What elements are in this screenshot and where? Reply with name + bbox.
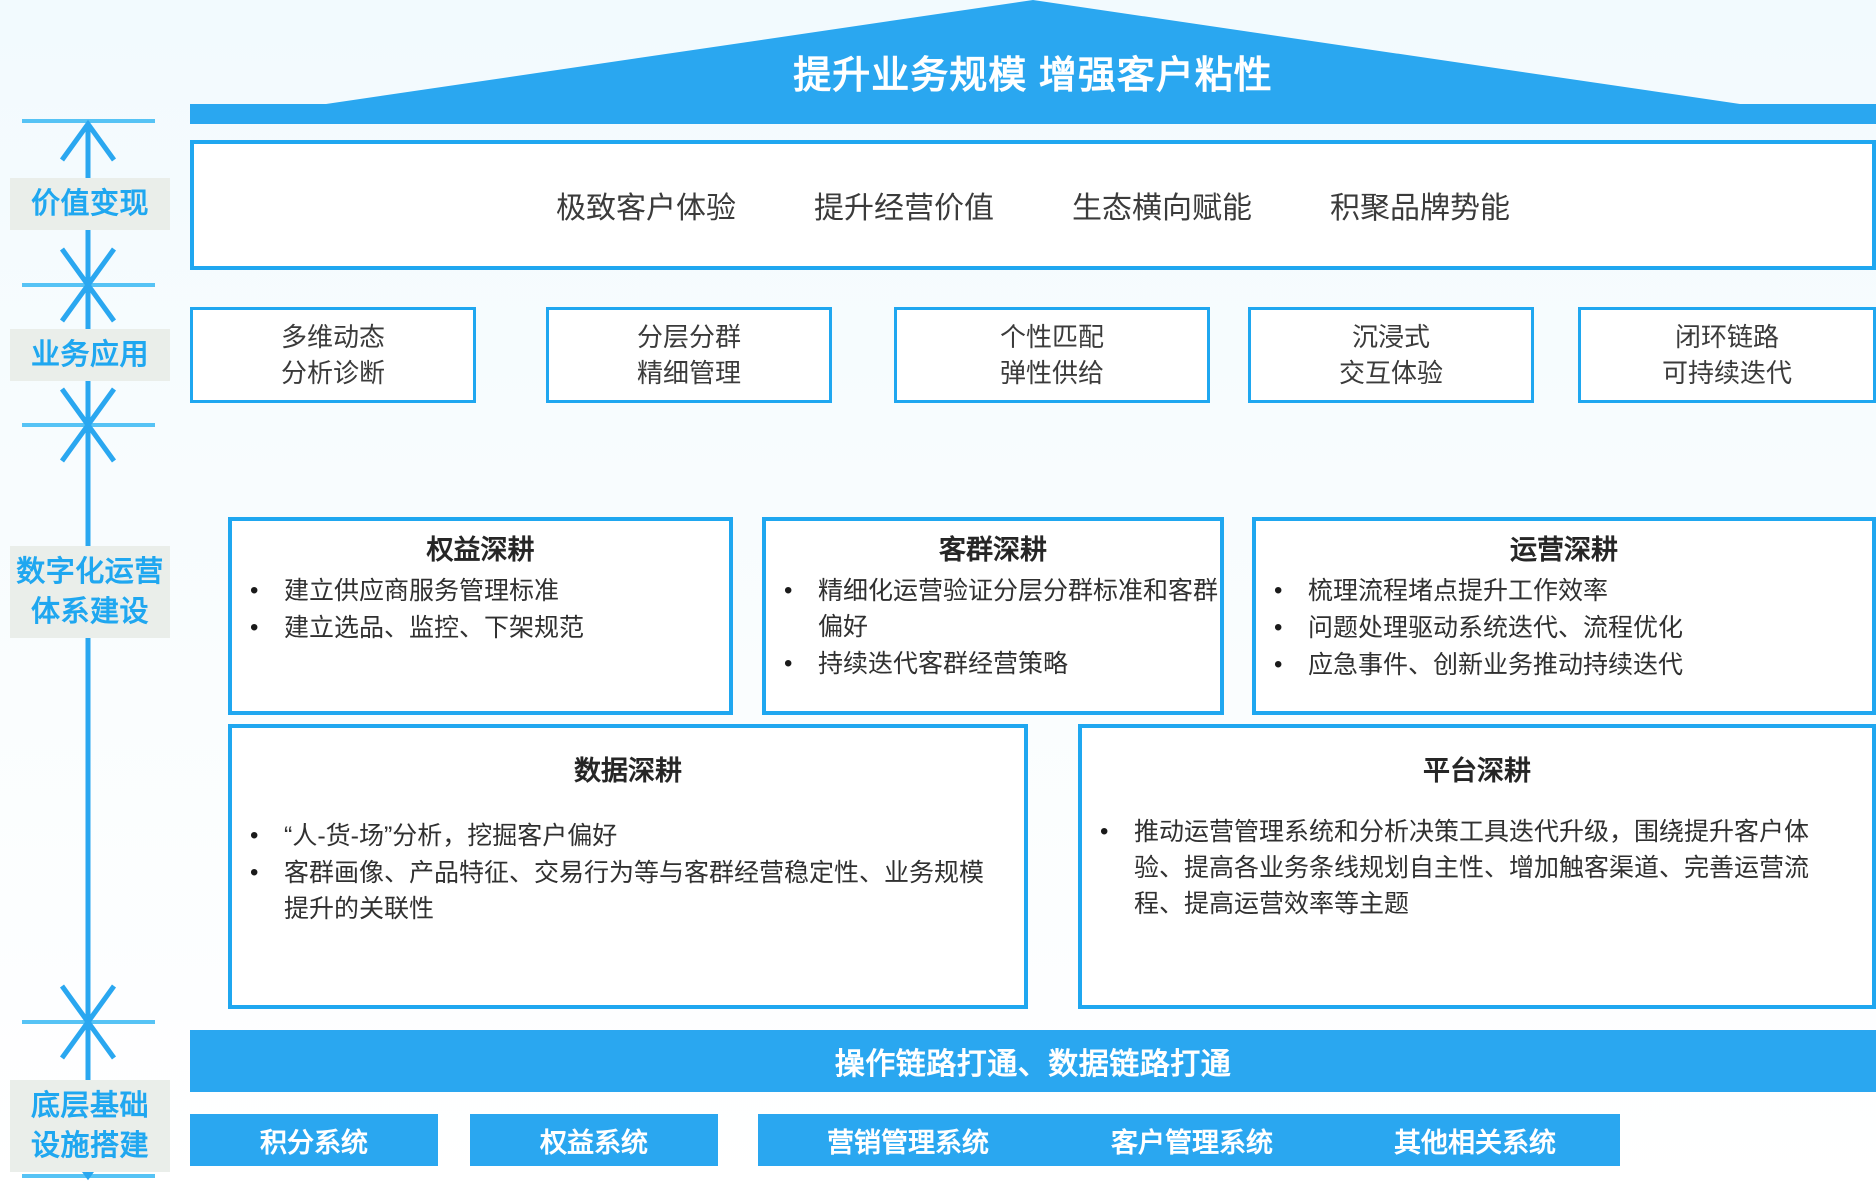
app-box-3[interactable]: 沉浸式 交互体验 bbox=[1248, 307, 1534, 403]
list-item: 建立选品、监控、下架规范 bbox=[232, 610, 729, 646]
app-box-1-line1: 分层分群 bbox=[637, 319, 741, 355]
value-item-1: 提升经营价值 bbox=[814, 183, 994, 227]
rail-item-application[interactable]: 业务应用 bbox=[10, 329, 170, 381]
value-item-2: 生态横向赋能 bbox=[1072, 183, 1252, 227]
app-box-0-line1: 多维动态 bbox=[281, 319, 385, 355]
app-box-1[interactable]: 分层分群 精细管理 bbox=[546, 307, 832, 403]
list-item: 持续迭代客群经营策略 bbox=[766, 646, 1220, 682]
system-box-marketing[interactable]: 营销管理系统 bbox=[758, 1114, 1058, 1166]
list-item: 梳理流程堵点提升工作效率 bbox=[1256, 573, 1872, 609]
deep-box-operation[interactable]: 运营深耕 梳理流程堵点提升工作效率 问题处理驱动系统迭代、流程优化 应急事件、创… bbox=[1252, 517, 1876, 715]
rail-item-infrastructure[interactable]: 底层基础 设施搭建 bbox=[10, 1080, 170, 1172]
deep-box-platform-title: 平台深耕 bbox=[1082, 752, 1872, 790]
list-item: 客群画像、产品特征、交易行为等与客群经营稳定性、业务规模提升的关联性 bbox=[232, 855, 1006, 927]
system-box-equity-label: 权益系统 bbox=[540, 1121, 648, 1160]
rail-label-line2: 设施搭建 bbox=[10, 1126, 170, 1166]
app-box-0[interactable]: 多维动态 分析诊断 bbox=[190, 307, 476, 403]
app-box-1-line2: 精细管理 bbox=[637, 355, 741, 391]
system-box-other[interactable]: 其他相关系统 bbox=[1330, 1114, 1620, 1166]
deep-box-customer-title: 客群深耕 bbox=[766, 531, 1220, 569]
value-realization-box[interactable]: 极致客户体验 提升经营价值 生态横向赋能 积聚品牌势能 bbox=[190, 140, 1876, 270]
app-box-2[interactable]: 个性匹配 弹性供给 bbox=[894, 307, 1210, 403]
system-box-other-label: 其他相关系统 bbox=[1394, 1121, 1556, 1160]
rail-item-digital-ops[interactable]: 数字化运营 体系建设 bbox=[10, 546, 170, 638]
app-box-4-line2: 可持续迭代 bbox=[1662, 355, 1792, 391]
deep-box-platform-list: 推动运营管理系统和分析决策工具迭代升级，围绕提升客户体验、提高各业务条线规划自主… bbox=[1082, 814, 1872, 922]
app-box-3-line2: 交互体验 bbox=[1339, 355, 1443, 391]
deep-box-data[interactable]: 数据深耕 “人-货-场”分析，挖掘客户偏好 客群画像、产品特征、交易行为等与客群… bbox=[228, 724, 1028, 1009]
app-box-2-line1: 个性匹配 bbox=[1000, 319, 1104, 355]
app-box-0-line2: 分析诊断 bbox=[281, 355, 385, 391]
rail-label-line1: 价值变现 bbox=[10, 184, 170, 224]
list-item: “人-货-场”分析，挖掘客户偏好 bbox=[232, 818, 1006, 854]
app-box-2-line2: 弹性供给 bbox=[1000, 355, 1104, 391]
deep-box-customer[interactable]: 客群深耕 精细化运营验证分层分群标准和客群偏好 持续迭代客群经营策略 bbox=[762, 517, 1224, 715]
deep-box-operation-list: 梳理流程堵点提升工作效率 问题处理驱动系统迭代、流程优化 应急事件、创新业务推动… bbox=[1256, 573, 1872, 683]
system-box-marketing-label: 营销管理系统 bbox=[827, 1121, 989, 1160]
list-item: 建立供应商服务管理标准 bbox=[232, 573, 729, 609]
deep-box-equity-title: 权益深耕 bbox=[232, 531, 729, 569]
value-item-3: 积聚品牌势能 bbox=[1330, 183, 1510, 227]
system-box-customer-label: 客户管理系统 bbox=[1111, 1121, 1273, 1160]
list-item: 问题处理驱动系统迭代、流程优化 bbox=[1256, 610, 1872, 646]
diagram-canvas: 价值变现 业务应用 数字化运营 体系建设 底层基础 设施搭建 提升业务规模 增强… bbox=[0, 0, 1876, 1186]
deep-box-platform[interactable]: 平台深耕 推动运营管理系统和分析决策工具迭代升级，围绕提升客户体验、提高各业务条… bbox=[1078, 724, 1876, 1009]
list-item: 应急事件、创新业务推动持续迭代 bbox=[1256, 647, 1872, 683]
deep-box-operation-title: 运营深耕 bbox=[1256, 531, 1872, 569]
stage-rail: 价值变现 业务应用 数字化运营 体系建设 底层基础 设施搭建 bbox=[0, 0, 182, 1186]
app-box-4-line1: 闭环链路 bbox=[1675, 319, 1779, 355]
goal-banner: 提升业务规模 增强客户粘性 bbox=[190, 0, 1876, 124]
linkage-bar-label: 操作链路打通、数据链路打通 bbox=[835, 1039, 1232, 1083]
list-item: 推动运营管理系统和分析决策工具迭代升级，围绕提升客户体验、提高各业务条线规划自主… bbox=[1082, 814, 1848, 922]
system-box-customer[interactable]: 客户管理系统 bbox=[1042, 1114, 1342, 1166]
system-box-points[interactable]: 积分系统 bbox=[190, 1114, 438, 1166]
deep-box-customer-list: 精细化运营验证分层分群标准和客群偏好 持续迭代客群经营策略 bbox=[766, 573, 1220, 682]
rail-label-line1: 业务应用 bbox=[10, 335, 170, 375]
deep-box-equity[interactable]: 权益深耕 建立供应商服务管理标准 建立选品、监控、下架规范 bbox=[228, 517, 733, 715]
list-item: 精细化运营验证分层分群标准和客群偏好 bbox=[766, 573, 1220, 645]
rail-label-line1: 底层基础 bbox=[10, 1086, 170, 1126]
value-item-0: 极致客户体验 bbox=[556, 183, 736, 227]
rail-item-value[interactable]: 价值变现 bbox=[10, 178, 170, 230]
system-box-equity[interactable]: 权益系统 bbox=[470, 1114, 718, 1166]
rail-label-line1: 数字化运营 bbox=[10, 552, 170, 592]
deep-box-equity-list: 建立供应商服务管理标准 建立选品、监控、下架规范 bbox=[232, 573, 729, 646]
deep-box-data-list: “人-货-场”分析，挖掘客户偏好 客群画像、产品特征、交易行为等与客群经营稳定性… bbox=[232, 818, 1024, 927]
banner-title: 提升业务规模 增强客户粘性 bbox=[190, 52, 1876, 100]
deep-box-data-title: 数据深耕 bbox=[232, 752, 1024, 790]
rail-label-line2: 体系建设 bbox=[10, 592, 170, 632]
app-box-3-line1: 沉浸式 bbox=[1352, 319, 1430, 355]
linkage-bar[interactable]: 操作链路打通、数据链路打通 bbox=[190, 1030, 1876, 1092]
app-box-4[interactable]: 闭环链路 可持续迭代 bbox=[1578, 307, 1876, 403]
system-box-points-label: 积分系统 bbox=[260, 1121, 368, 1160]
